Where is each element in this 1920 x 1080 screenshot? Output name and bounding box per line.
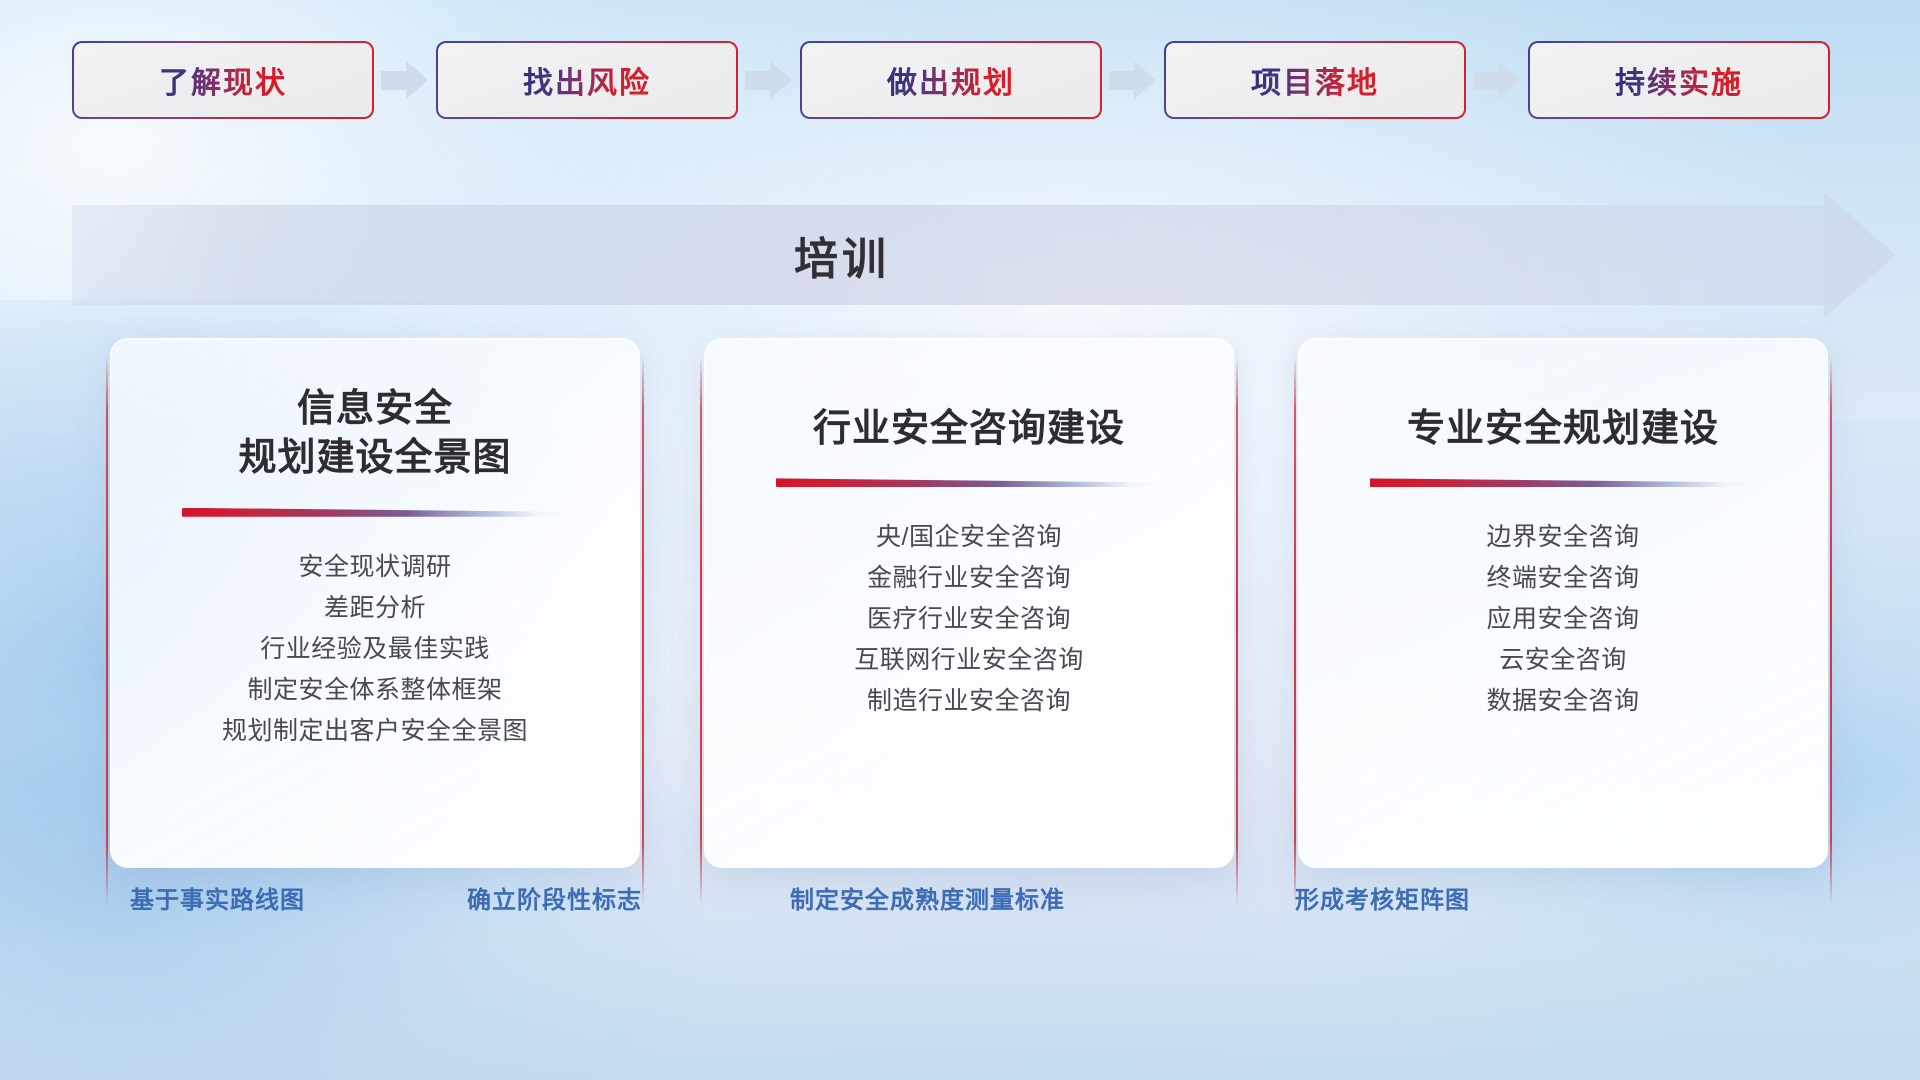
card-item: 差距分析 xyxy=(324,588,426,629)
card-item: 终端安全咨询 xyxy=(1486,558,1639,599)
training-banner-label: 培训 xyxy=(72,205,1612,305)
process-step-inner: 了解现状 xyxy=(74,43,372,117)
card-title-divider xyxy=(776,478,1162,487)
process-step-row: 了解现状找出风险做出规划项目落地持续实施 xyxy=(0,0,1920,160)
arrow-right-icon xyxy=(1469,59,1525,101)
card-item: 边界安全咨询 xyxy=(1486,517,1639,558)
card-item-list: 安全现状调研差距分析行业经验及最佳实践制定安全体系整体框架规划制定出客户安全全景… xyxy=(111,547,639,752)
footnote-label: 确立阶段性标志 xyxy=(467,880,642,915)
process-step-inner: 找出风险 xyxy=(438,43,736,117)
card-body: 信息安全 规划建设全景图安全现状调研差距分析行业经验及最佳实践制定安全体系整体框… xyxy=(110,338,640,868)
footnote-label: 制定安全成熟度测量标准 xyxy=(790,880,1065,915)
process-step-label: 持续实施 xyxy=(1615,58,1743,102)
arrow-right-icon xyxy=(741,59,797,101)
card-right-accent-line xyxy=(642,356,644,906)
card-item: 云安全咨询 xyxy=(1499,640,1627,681)
card-body: 专业安全规划建设边界安全咨询终端安全咨询应用安全咨询云安全咨询数据安全咨询 xyxy=(1298,338,1828,868)
card-item: 医疗行业安全咨询 xyxy=(867,599,1071,640)
card-item-list: 央/国企安全咨询金融行业安全咨询医疗行业安全咨询互联网行业安全咨询制造行业安全咨… xyxy=(705,517,1233,722)
process-step-label: 项目落地 xyxy=(1251,58,1379,102)
card-3[interactable]: 专业安全规划建设边界安全咨询终端安全咨询应用安全咨询云安全咨询数据安全咨询 xyxy=(1298,338,1828,868)
arrow-right-icon xyxy=(1105,59,1161,101)
card-left-accent-line xyxy=(700,356,702,906)
banner-arrow-right-icon xyxy=(1824,192,1896,318)
footnote-row: 基于事实路线图确立阶段性标志制定安全成熟度测量标准形成考核矩阵图 xyxy=(0,880,1920,960)
card-title-divider xyxy=(1370,478,1756,487)
process-step-1[interactable]: 了解现状 xyxy=(72,41,374,119)
card-body: 行业安全咨询建设央/国企安全咨询金融行业安全咨询医疗行业安全咨询互联网行业安全咨… xyxy=(704,338,1234,868)
process-step-label: 找出风险 xyxy=(523,58,651,102)
card-left-accent-line xyxy=(1294,356,1296,906)
card-2[interactable]: 行业安全咨询建设央/国企安全咨询金融行业安全咨询医疗行业安全咨询互联网行业安全咨… xyxy=(704,338,1234,868)
training-banner-body: 培训 xyxy=(72,205,1824,305)
process-step-inner: 持续实施 xyxy=(1530,43,1828,117)
footnote-label: 基于事实路线图 xyxy=(130,880,305,915)
card-item: 规划制定出客户安全全景图 xyxy=(222,711,528,752)
card-title-divider xyxy=(182,508,568,517)
card-right-accent-line xyxy=(1236,356,1238,906)
process-step-label: 做出规划 xyxy=(887,58,1015,102)
card-title: 行业安全咨询建设 xyxy=(813,405,1125,454)
card-item: 互联网行业安全咨询 xyxy=(854,640,1084,681)
process-step-inner: 做出规划 xyxy=(802,43,1100,117)
card-item: 行业经验及最佳实践 xyxy=(260,629,490,670)
process-step-2[interactable]: 找出风险 xyxy=(436,41,738,119)
card-left-accent-line xyxy=(106,356,108,906)
card-title: 信息安全 规划建设全景图 xyxy=(238,385,511,484)
card-1[interactable]: 信息安全 规划建设全景图安全现状调研差距分析行业经验及最佳实践制定安全体系整体框… xyxy=(110,338,640,868)
card-item: 制定安全体系整体框架 xyxy=(247,670,502,711)
card-item: 金融行业安全咨询 xyxy=(867,558,1071,599)
arrow-right-icon xyxy=(377,59,433,101)
footnote-label: 形成考核矩阵图 xyxy=(1295,880,1470,915)
process-step-4[interactable]: 项目落地 xyxy=(1164,41,1466,119)
process-step-3[interactable]: 做出规划 xyxy=(800,41,1102,119)
training-banner: 培训 xyxy=(0,205,1920,305)
card-item: 制造行业安全咨询 xyxy=(867,681,1071,722)
card-row: 信息安全 规划建设全景图安全现状调研差距分析行业经验及最佳实践制定安全体系整体框… xyxy=(0,338,1920,868)
card-item: 数据安全咨询 xyxy=(1486,681,1639,722)
card-item: 应用安全咨询 xyxy=(1486,599,1639,640)
card-title: 专业安全规划建设 xyxy=(1407,405,1719,454)
card-item: 安全现状调研 xyxy=(298,547,451,588)
card-item-list: 边界安全咨询终端安全咨询应用安全咨询云安全咨询数据安全咨询 xyxy=(1299,517,1827,722)
card-item: 央/国企安全咨询 xyxy=(876,517,1062,558)
card-right-accent-line xyxy=(1830,356,1832,906)
process-step-inner: 项目落地 xyxy=(1166,43,1464,117)
process-step-label: 了解现状 xyxy=(159,58,287,102)
process-step-5[interactable]: 持续实施 xyxy=(1528,41,1830,119)
